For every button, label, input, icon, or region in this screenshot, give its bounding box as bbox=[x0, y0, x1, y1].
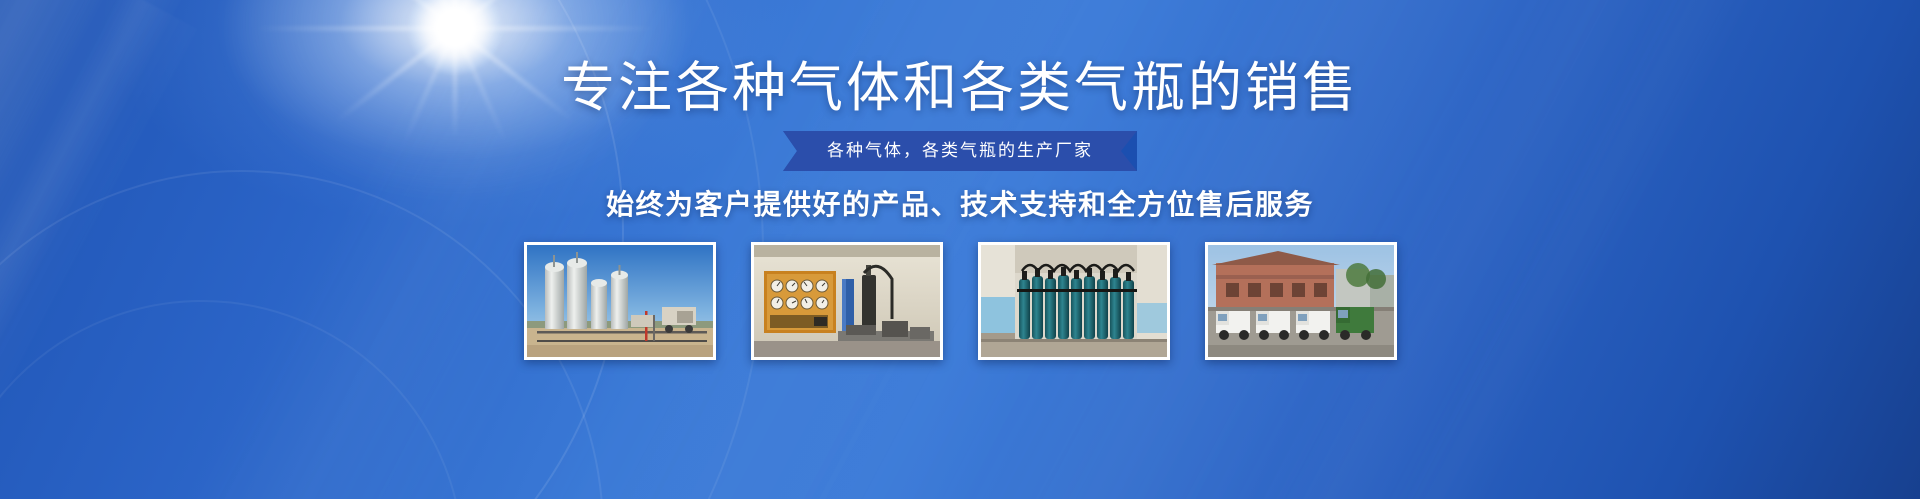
banner-headline: 专注各种气体和各类气瓶的销售 bbox=[0, 56, 1920, 120]
banner-content: 专注各种气体和各类气瓶的销售 各种气体，各类气瓶的生产厂家 始终为客户提供好的产… bbox=[0, 0, 1920, 499]
photo-storage-tanks[interactable] bbox=[524, 242, 716, 360]
banner-ribbon-label: 各种气体，各类气瓶的生产厂家 bbox=[783, 131, 1137, 171]
photo-storage-tanks-image bbox=[527, 245, 713, 357]
banner-ribbon-wrapper: 各种气体，各类气瓶的生产厂家 bbox=[0, 131, 1920, 171]
hero-banner: 专注各种气体和各类气瓶的销售 各种气体，各类气瓶的生产厂家 始终为客户提供好的产… bbox=[0, 0, 1920, 499]
photo-cylinder-rack-image bbox=[981, 245, 1167, 357]
photo-filling-panel[interactable] bbox=[751, 242, 943, 360]
photo-strip bbox=[0, 242, 1920, 360]
banner-subline: 始终为客户提供好的产品、技术支持和全方位售后服务 bbox=[0, 186, 1920, 224]
photo-delivery-trucks-image bbox=[1208, 245, 1394, 357]
photo-delivery-trucks[interactable] bbox=[1205, 242, 1397, 360]
photo-cylinder-rack[interactable] bbox=[978, 242, 1170, 360]
photo-filling-panel-image bbox=[754, 245, 940, 357]
